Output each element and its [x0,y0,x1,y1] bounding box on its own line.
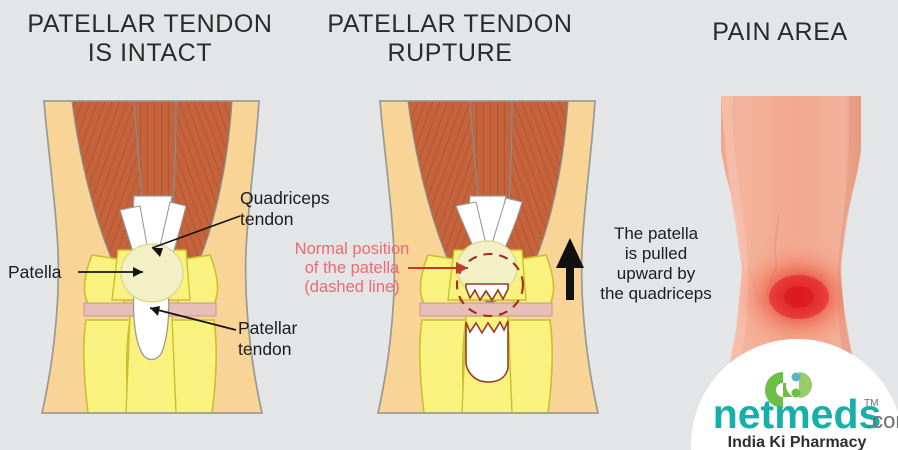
logo-tagline-text: India Ki Pharmacy [728,434,867,450]
anatomy-illustration: netmeds .com TM India Ki Pharmacy [0,0,898,450]
label-patellar-tendon: Patellar tendon [238,318,297,359]
label-patella: Patella [8,262,62,283]
torn-tendon-lower [466,321,508,382]
meniscus-rupture [420,303,552,316]
logo-tld-text: .com [866,408,898,433]
logo-brand-text: netmeds [713,391,882,437]
tibia-left-rupture [420,320,466,413]
patella-intact [121,244,183,302]
netmeds-logo[interactable]: netmeds .com TM India Ki Pharmacy [691,339,898,450]
label-quadriceps-tendon: Quadriceps tendon [240,188,330,229]
logo-trademark-text: TM [864,398,878,409]
logo-dot-top-icon [792,373,801,382]
label-normal-position: Normal position of the patella (dashed l… [278,240,426,297]
illustration-canvas: PATELLAR TENDON IS INTACT PATELLAR TENDO… [0,0,898,450]
panel-intact-knee [42,100,262,413]
label-pulled-upward: The patella is pulled upward by the quad… [586,224,726,304]
tibia-left-intact [84,320,130,413]
